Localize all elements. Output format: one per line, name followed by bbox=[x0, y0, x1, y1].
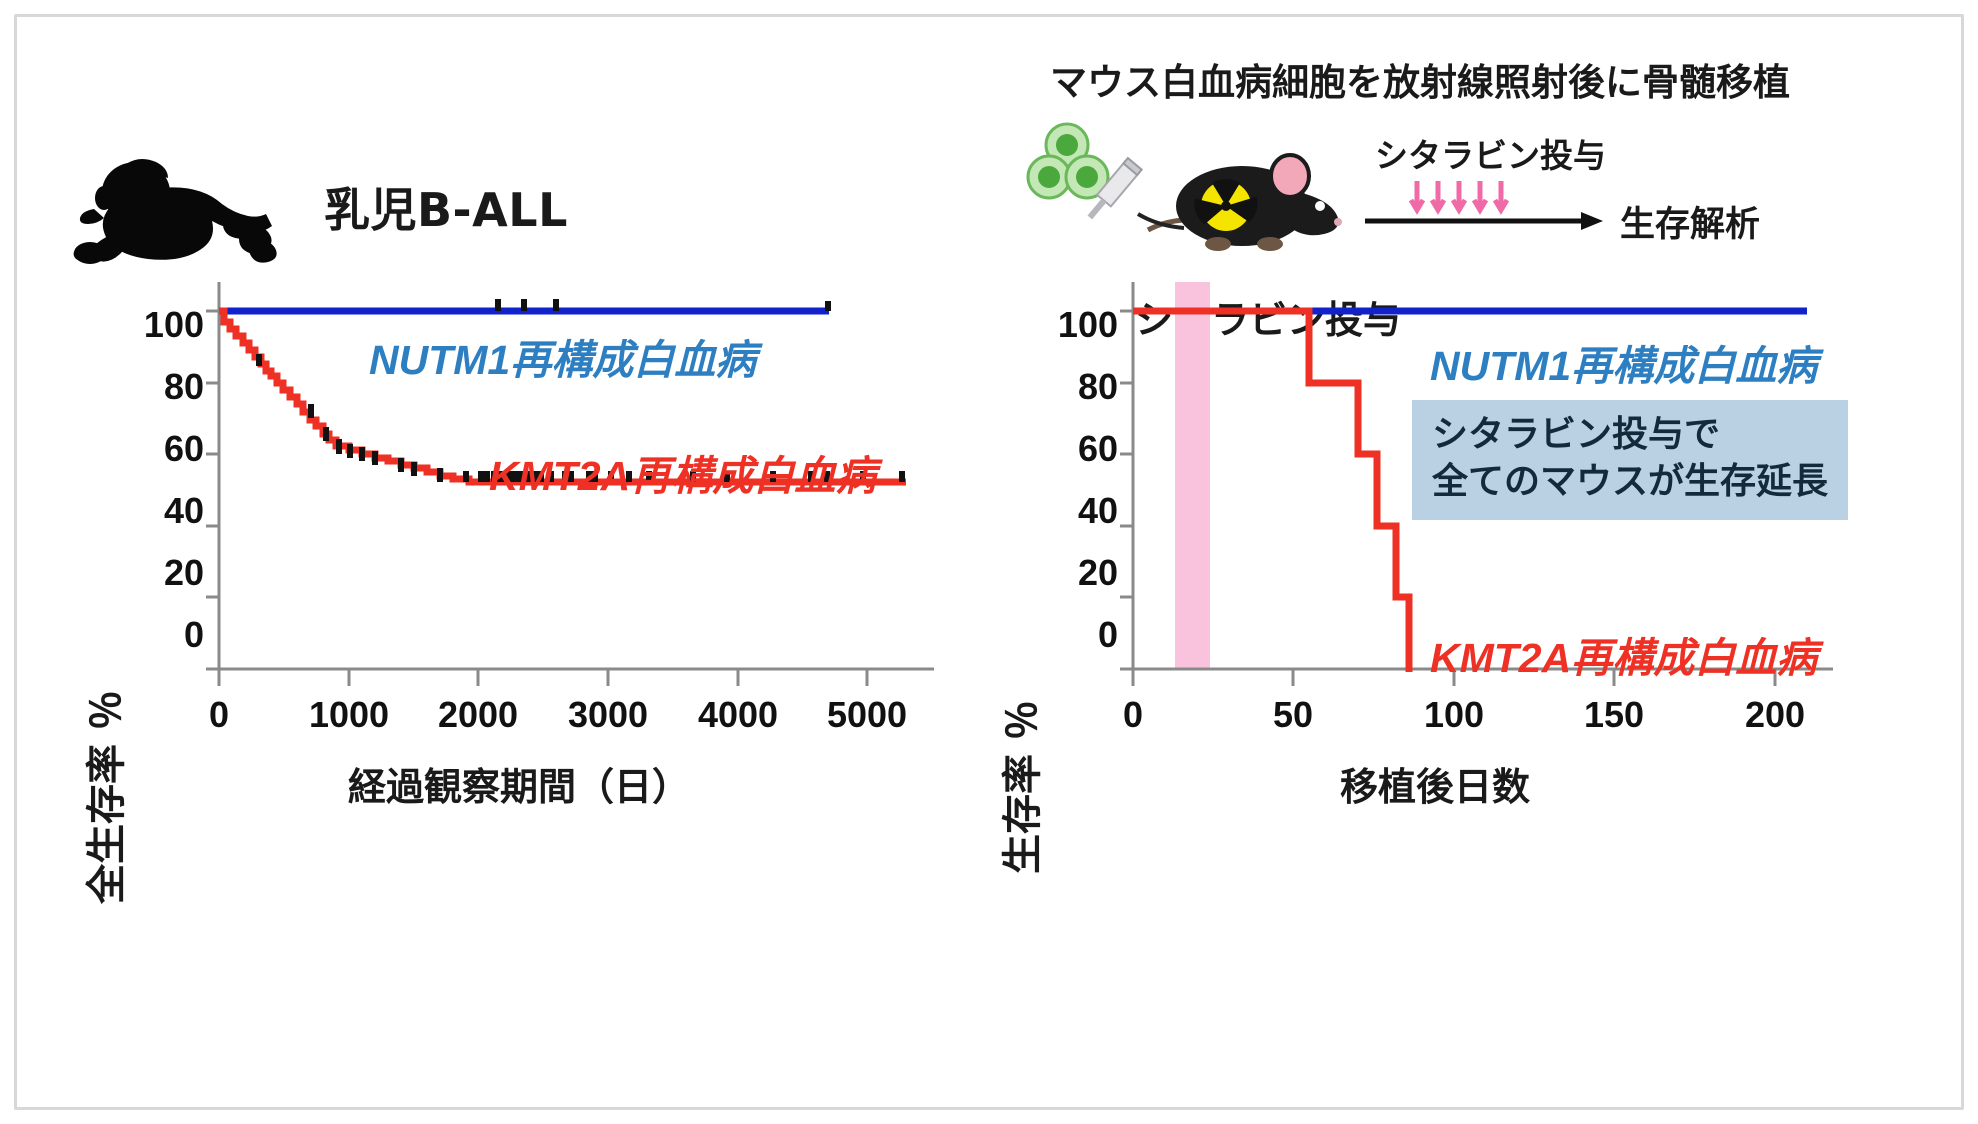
right-panel: マウス白血病細胞を放射線照射後に骨髄移植 bbox=[990, 24, 1954, 1084]
os-xtick-0: 0 bbox=[159, 694, 279, 736]
irradiated-mouse-icon bbox=[1130, 144, 1350, 254]
os-ytick-40: 40 bbox=[104, 490, 204, 532]
os-xtick-4000: 4000 bbox=[678, 694, 798, 736]
os-ytick-20: 20 bbox=[104, 552, 204, 594]
os-x-axis-title: 経過観察期間（日） bbox=[279, 756, 759, 811]
ms-series-kmt2a-line bbox=[1133, 311, 1409, 672]
os-xtick-3000: 3000 bbox=[548, 694, 668, 736]
ms-ytick-40: 40 bbox=[1018, 490, 1118, 532]
pink-dosing-arrows-icon bbox=[1405, 179, 1515, 213]
ms-ytick-20: 20 bbox=[1018, 552, 1118, 594]
ms-xtick-0: 0 bbox=[1073, 694, 1193, 736]
mouse-survival-chart: シタラビン投与 生存率 ％ 0 20 40 60 80 100 bbox=[990, 294, 1950, 1014]
ms-label-nutm1: NUTM1再構成白血病 bbox=[1430, 332, 1817, 392]
os-x-ticks bbox=[219, 669, 867, 686]
ms-ytick-100: 100 bbox=[1018, 304, 1118, 346]
right-arrow-icon bbox=[1365, 210, 1605, 232]
os-xtick-1000: 1000 bbox=[289, 694, 409, 736]
ms-xtick-200: 200 bbox=[1715, 694, 1835, 736]
figure-root: 乳児B-ALL 全生存率 ％ 0 20 40 60 80 100 bbox=[0, 0, 1978, 1124]
ms-xtick-50: 50 bbox=[1233, 694, 1353, 736]
os-label-kmt2a: KMT2A再構成白血病 bbox=[489, 442, 876, 502]
os-y-ticks bbox=[206, 311, 219, 669]
ms-annotation-line-2: 全てのマウスが生存延長 bbox=[1432, 459, 1828, 506]
ms-x-axis-title: 移植後日数 bbox=[1235, 756, 1635, 811]
ms-ytick-60: 60 bbox=[1018, 428, 1118, 470]
ms-annotation-callout: シタラビン投与で 全てのマウスが生存延長 bbox=[1412, 400, 1848, 520]
ms-xtick-150: 150 bbox=[1554, 694, 1674, 736]
ms-treatment-band bbox=[1175, 282, 1210, 669]
os-y-axis-title: 全生存率 ％ bbox=[74, 690, 132, 904]
ms-xtick-100: 100 bbox=[1394, 694, 1514, 736]
os-ytick-100: 100 bbox=[104, 304, 204, 346]
os-ytick-60: 60 bbox=[104, 428, 204, 470]
overall-survival-chart: 全生存率 ％ 0 20 40 60 80 100 bbox=[64, 294, 964, 1014]
os-label-nutm1: NUTM1再構成白血病 bbox=[369, 326, 756, 386]
ms-ytick-80: 80 bbox=[1018, 366, 1118, 408]
ms-annotation-line-1: シタラビン投与で bbox=[1432, 412, 1828, 459]
ms-ytick-0: 0 bbox=[1018, 614, 1118, 656]
os-ytick-0: 0 bbox=[104, 614, 204, 656]
left-panel: 乳児B-ALL 全生存率 ％ 0 20 40 60 80 100 bbox=[24, 24, 984, 1084]
left-panel-title: 乳児B-ALL bbox=[324, 174, 568, 240]
ms-label-kmt2a: KMT2A再構成白血病 bbox=[1430, 624, 1817, 684]
baby-icon bbox=[74, 154, 304, 274]
os-xtick-5000: 5000 bbox=[807, 694, 927, 736]
ms-y-ticks bbox=[1120, 311, 1133, 669]
ms-y-axis-title: 生存率 ％ bbox=[990, 700, 1048, 874]
experiment-title: マウス白血病細胞を放射線照射後に骨髄移植 bbox=[1050, 52, 1790, 106]
os-ytick-80: 80 bbox=[104, 366, 204, 408]
os-xtick-2000: 2000 bbox=[418, 694, 538, 736]
survival-analysis-label: 生存解析 bbox=[1620, 196, 1760, 247]
cytarabine-dosing-label: シタラビン投与 bbox=[1375, 129, 1606, 177]
